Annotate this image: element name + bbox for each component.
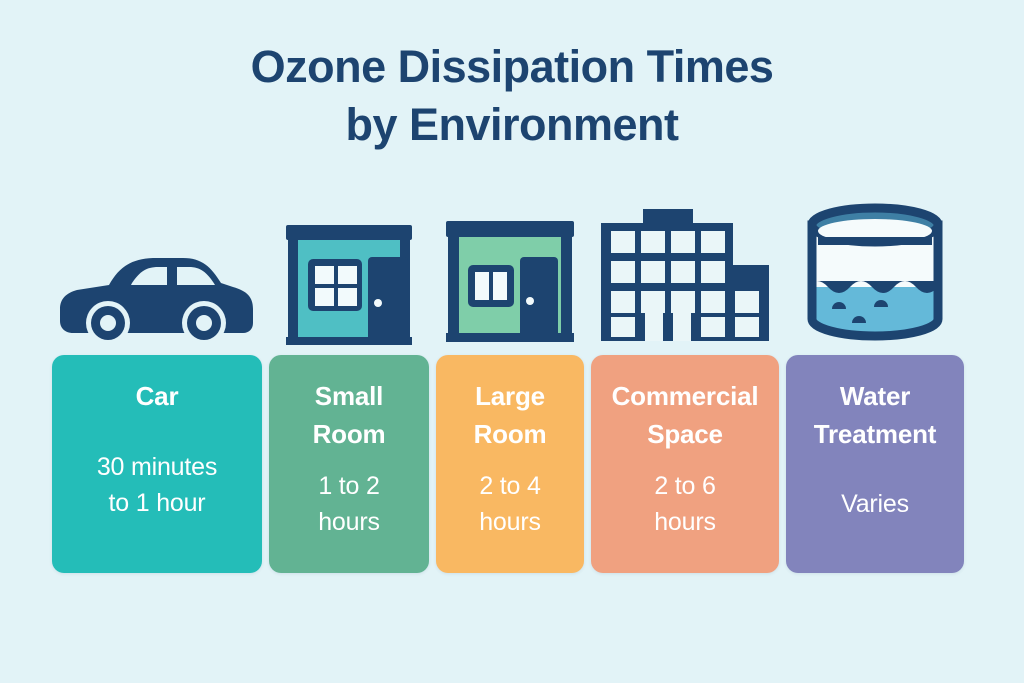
card-title: Large Room [474, 377, 547, 453]
card-value-line-1: 1 to 2 [318, 472, 379, 500]
card-value-line-2: hours [479, 508, 541, 536]
water-tank-icon [800, 200, 950, 355]
title-line-2: by Environment [0, 96, 1024, 154]
card-value: 30 minutes to 1 hour [97, 449, 217, 521]
card-title-line-1: Water [840, 381, 910, 411]
title-line-1: Ozone Dissipation Times [0, 38, 1024, 96]
card-value: 1 to 2 hours [318, 468, 380, 540]
card-value-line-1: 2 to 4 [479, 472, 540, 500]
card-value: 2 to 4 hours [479, 468, 541, 540]
page-title: Ozone Dissipation Times by Environment [0, 38, 1024, 154]
card-value-line-1: 30 minutes [97, 453, 217, 481]
infographic-root: Ozone Dissipation Times by Environment [0, 0, 1024, 683]
card-value-line-2: to 1 hour [109, 489, 206, 517]
card-value-line-2: hours [318, 508, 380, 536]
card-title-line-1: Small [315, 381, 383, 411]
card-value: Varies [841, 486, 909, 522]
large-room-house-icon [440, 200, 580, 355]
small-room-house-icon [282, 200, 416, 355]
card-title-line-2: Room [313, 419, 386, 449]
card-small-room[interactable]: Small Room 1 to 2 hours [269, 355, 429, 573]
card-title-line-2: Space [647, 419, 723, 449]
card-value-line-1: 2 to 6 [654, 472, 715, 500]
card-value-line-1: Varies [841, 490, 909, 518]
environment-column-car: Car 30 minutes to 1 hour [52, 200, 262, 580]
environment-column-large-room: Large Room 2 to 4 hours [436, 200, 584, 580]
card-title: Car [136, 377, 179, 415]
card-large-room[interactable]: Large Room 2 to 4 hours [436, 355, 584, 573]
environment-column-water-treatment: Water Treatment Varies [786, 200, 964, 580]
commercial-building-icon [597, 200, 773, 355]
card-title: Small Room [313, 377, 386, 453]
card-value-line-2: hours [654, 508, 716, 536]
card-title-line-1: Commercial [612, 381, 759, 411]
card-title-line-2: Treatment [814, 419, 936, 449]
car-icon [57, 200, 257, 355]
card-title-line-2: Room [474, 419, 547, 449]
card-title: Commercial Space [612, 377, 759, 453]
card-value: 2 to 6 hours [654, 468, 716, 540]
card-commercial-space[interactable]: Commercial Space 2 to 6 hours [591, 355, 779, 573]
environment-column-commercial-space: Commercial Space 2 to 6 hours [591, 200, 779, 580]
card-water-treatment[interactable]: Water Treatment Varies [786, 355, 964, 573]
card-title: Water Treatment [814, 377, 936, 453]
environment-columns: Car 30 minutes to 1 hour [52, 200, 972, 580]
environment-column-small-room: Small Room 1 to 2 hours [269, 200, 429, 580]
card-title-line-1: Large [475, 381, 545, 411]
card-title-line-1: Car [136, 381, 179, 411]
card-car[interactable]: Car 30 minutes to 1 hour [52, 355, 262, 573]
